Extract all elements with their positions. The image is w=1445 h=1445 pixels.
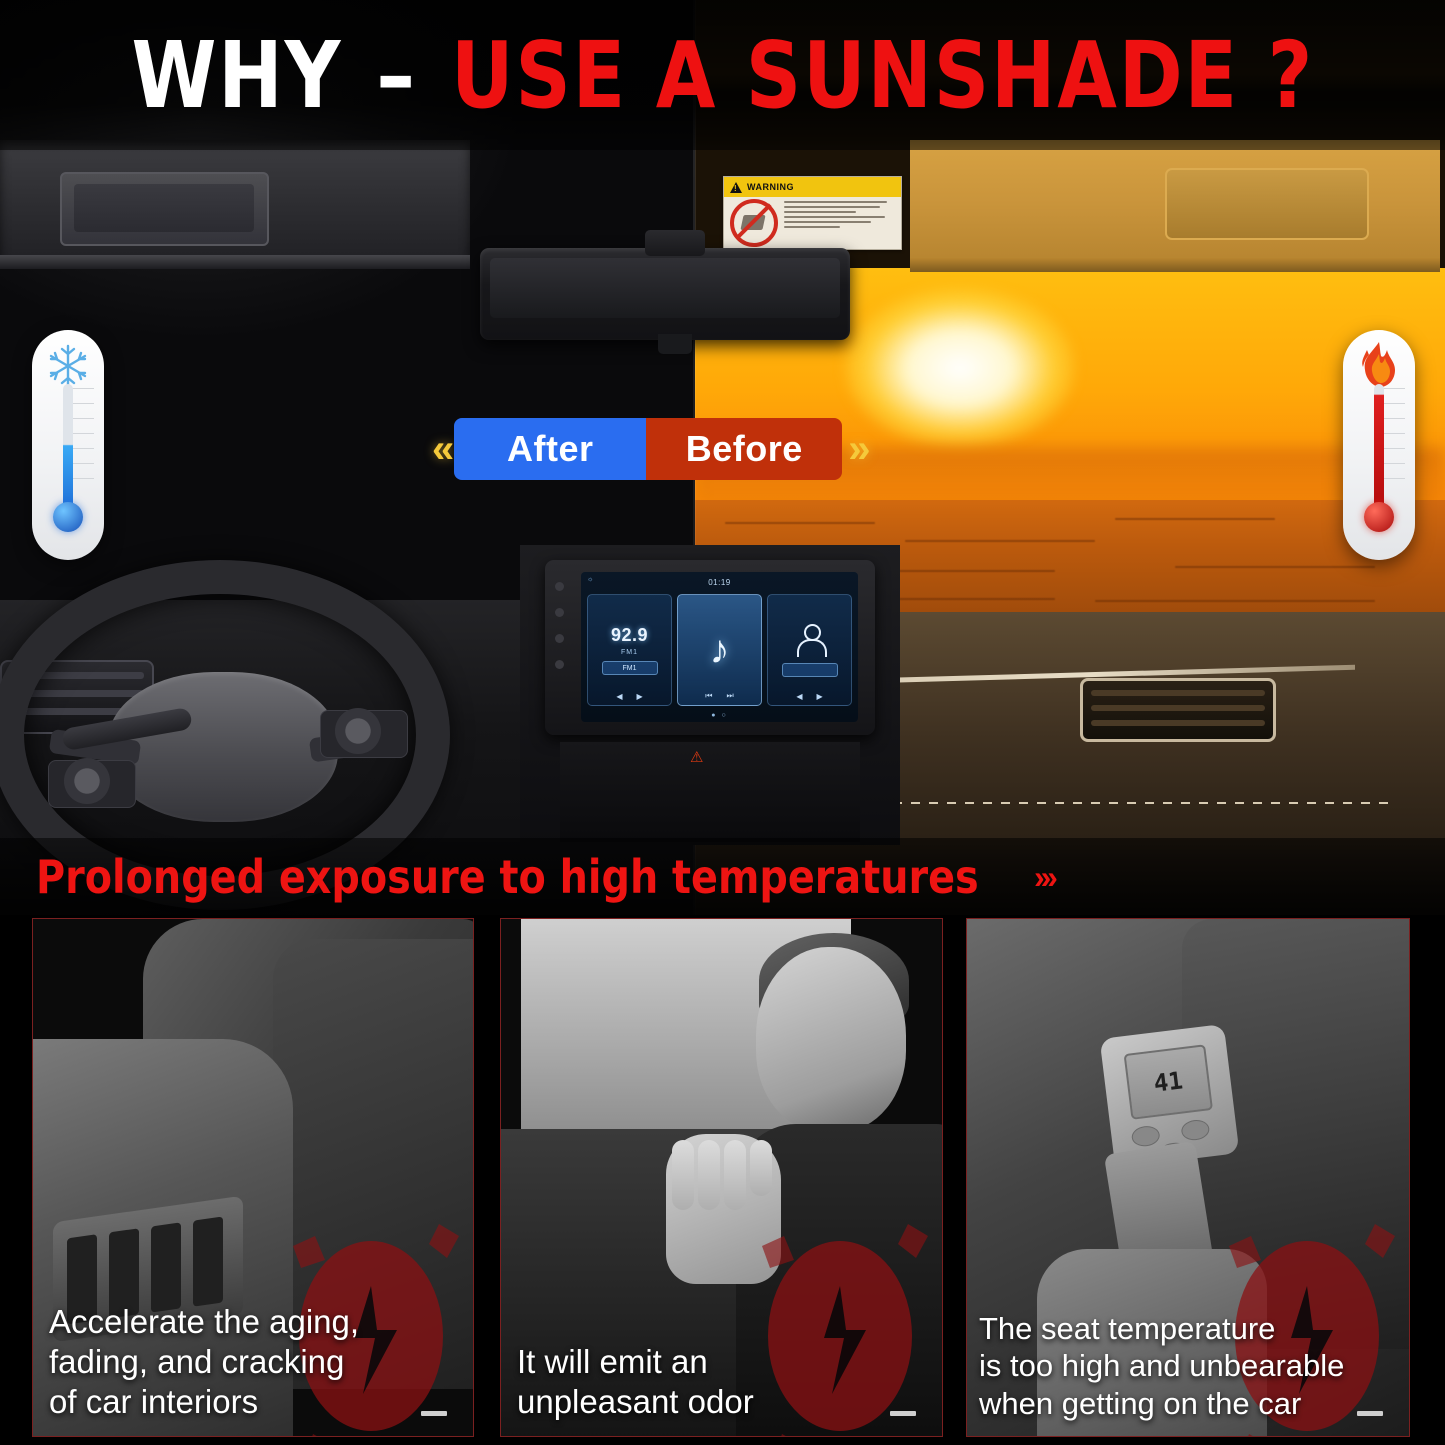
- thermometer-tube-cold: [63, 384, 73, 510]
- radio-preset[interactable]: FM1: [602, 661, 658, 675]
- mirror-glass: [490, 258, 840, 318]
- hu-button-home[interactable]: [555, 660, 564, 669]
- wheel-dpad-left[interactable]: [64, 758, 110, 804]
- phone-prev-icon[interactable]: ◀: [796, 692, 802, 701]
- warning-word: WARNING: [747, 182, 794, 192]
- thermometer-ticks-cold: [72, 388, 94, 518]
- screen-cards: 92.9 FM1 FM1 ◀ ▶ ♪ ⏮ ⏭: [587, 594, 852, 706]
- radio-controls[interactable]: ◀ ▶: [616, 692, 642, 701]
- air-vent-right: [1080, 678, 1276, 742]
- infotainment-screen[interactable]: ☼ 01:19 92.9 FM1 FM1 ◀ ▶ ♪: [581, 572, 858, 722]
- thermometer-display: 41: [1124, 1044, 1213, 1120]
- airbag-warning-label: WARNING: [723, 176, 902, 250]
- head-unit-side-buttons[interactable]: [555, 582, 564, 669]
- visor-mirror-slot-right: [1165, 168, 1369, 240]
- hu-button-volume[interactable]: [555, 634, 564, 643]
- snowflake-icon: [44, 342, 92, 390]
- user-icon: [795, 624, 825, 658]
- visor-edge-left: [0, 255, 470, 269]
- sun-visor-shaded: [0, 140, 470, 265]
- media-card[interactable]: ♪ ⏮ ⏭: [677, 594, 762, 706]
- title-dash: –: [370, 22, 421, 129]
- media-controls[interactable]: ⏮ ⏭: [705, 691, 733, 701]
- title-why: WHY: [131, 22, 342, 129]
- visor-mirror-slot: [60, 172, 269, 246]
- warning-body: [724, 197, 901, 249]
- steering-wheel-hub: [108, 672, 338, 822]
- caption-dash-mark: [890, 1411, 916, 1416]
- panel-caption: It will emit an unpleasant odor: [517, 1342, 932, 1422]
- hu-button-menu[interactable]: [555, 608, 564, 617]
- thermometer-bulb-hot: [1364, 502, 1394, 532]
- phone-card[interactable]: ◀ ▶: [767, 594, 852, 706]
- before-after-toggle[interactable]: « After Before »: [432, 413, 952, 485]
- panel-unpleasant-odor: It will emit an unpleasant odor: [500, 918, 943, 1437]
- hero-comparison-image: WARNING: [0, 0, 1445, 915]
- visor-edge-right: [910, 258, 1440, 272]
- warning-text-lines: [784, 197, 901, 249]
- media-next-icon[interactable]: ⏭: [727, 691, 734, 701]
- music-note-icon: ♪: [710, 630, 730, 670]
- thermometer-tube-hot: [1374, 384, 1384, 510]
- header-banner: WHY – USE A SUNSHADE ?: [0, 0, 1445, 150]
- flame-icon: [1357, 340, 1401, 390]
- subhead-text: Prolonged exposure to high temperatures: [36, 850, 979, 904]
- caption-dash-mark: [421, 1411, 447, 1416]
- hu-button-power[interactable]: [555, 582, 564, 591]
- radio-prev-icon[interactable]: ◀: [616, 692, 622, 701]
- chevron-right-icon: »: [848, 427, 864, 472]
- chevron-triple-icon: ›››: [1034, 859, 1054, 896]
- cold-thermometer: [32, 330, 104, 560]
- panel-hot-seat: 41 The seat temperature is too high and …: [966, 918, 1410, 1437]
- radio-frequency: 92.9: [611, 625, 648, 646]
- mirror-mount: [658, 334, 692, 354]
- chevron-left-icon: «: [432, 427, 448, 472]
- thermometer-ticks-hot: [1383, 388, 1405, 518]
- screen-clock: 01:19: [581, 576, 858, 589]
- phone-controls[interactable]: ◀ ▶: [796, 692, 822, 701]
- panel-caption: The seat temperature is too high and unb…: [979, 1310, 1399, 1423]
- after-pill[interactable]: After: [454, 418, 646, 480]
- infotainment-head-unit[interactable]: ☼ 01:19 92.9 FM1 FM1 ◀ ▶ ♪: [545, 560, 875, 735]
- sun-visor-sunlit: [910, 140, 1440, 268]
- radio-next-icon[interactable]: ▶: [637, 692, 643, 701]
- hot-thermometer: [1343, 330, 1415, 560]
- consequence-panels: Accelerate the aging, fading, and cracki…: [0, 915, 1445, 1445]
- title-sunshade: USE A SUNSHADE ?: [451, 22, 1314, 129]
- phone-next-icon[interactable]: ▶: [817, 692, 823, 701]
- subhead-banner: Prolonged exposure to high temperatures …: [0, 838, 1445, 916]
- thermometer-bulb-cold: [53, 502, 83, 532]
- caption-dash-mark: [1357, 1411, 1383, 1416]
- screen-page-dots: ● ○: [581, 712, 858, 719]
- infographic-page: WARNING: [0, 0, 1445, 1445]
- radio-card[interactable]: 92.9 FM1 FM1 ◀ ▶: [587, 594, 672, 706]
- no-child-seat-icon: [730, 199, 778, 247]
- media-prev-icon[interactable]: ⏮: [705, 691, 712, 701]
- panel-caption: Accelerate the aging, fading, and cracki…: [49, 1302, 463, 1422]
- warning-symbol: [724, 197, 784, 249]
- rearview-mirror: [480, 248, 850, 340]
- page-title: WHY – USE A SUNSHADE ?: [131, 22, 1314, 129]
- panel-aging-interior: Accelerate the aging, fading, and cracki…: [32, 918, 474, 1437]
- mirror-stem: [645, 230, 705, 256]
- radio-band: FM1: [621, 649, 638, 656]
- hazard-warning-icon[interactable]: ⚠: [690, 748, 712, 768]
- contact-field[interactable]: [782, 663, 838, 677]
- before-pill[interactable]: Before: [646, 418, 842, 480]
- thermometer-reading: 41: [1152, 1066, 1184, 1097]
- warning-triangle-icon: [730, 182, 742, 193]
- warning-banner: WARNING: [724, 177, 901, 197]
- wheel-dpad-right[interactable]: [335, 708, 381, 754]
